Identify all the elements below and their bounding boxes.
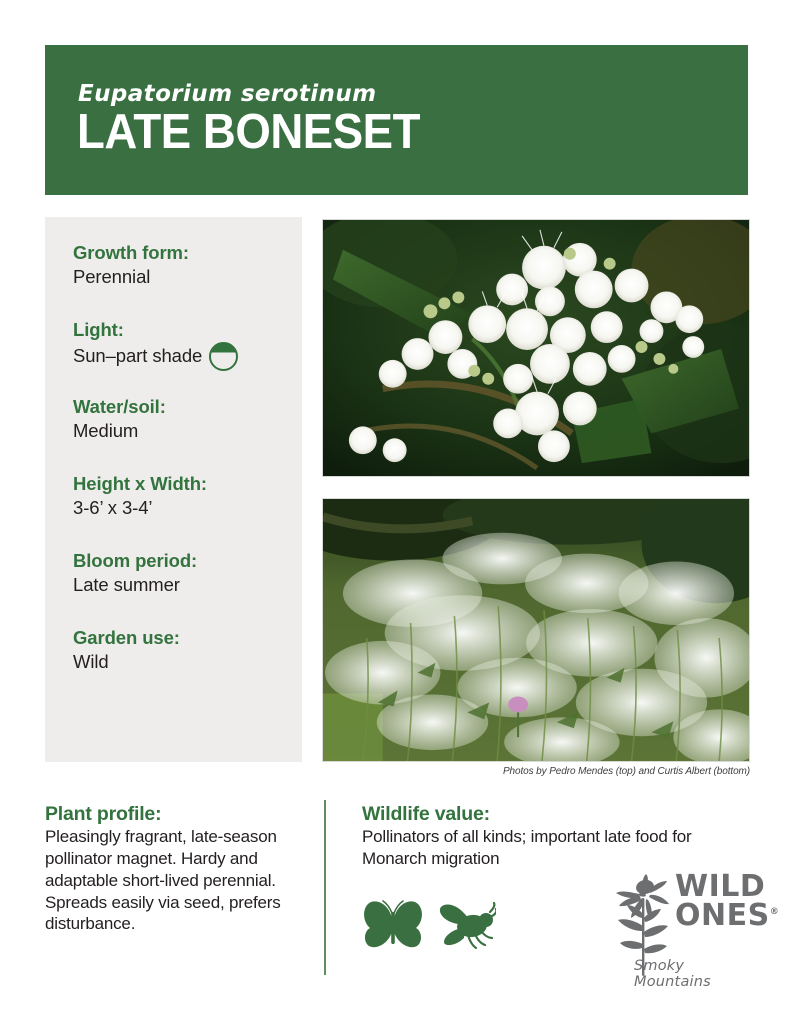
plant-profile-body: Pleasingly fragrant, late-season pollina… (45, 826, 303, 935)
plant-profile-title: Plant profile: (45, 802, 303, 826)
wildlife-value-section: Wildlife value: Pollinators of all kinds… (362, 802, 752, 870)
growth-form-value: Perennial (73, 265, 150, 289)
logo-chapter-name: Smoky Mountains (634, 958, 752, 990)
growth-form-label: Growth form: (73, 241, 308, 265)
plant-info-card: Eupatorium serotinum LATE BONESET Growth… (0, 0, 791, 1024)
part-sun-circle-icon (209, 342, 238, 371)
wildlife-icon-group (362, 898, 496, 950)
bloom-period-value: Late summer (73, 573, 180, 597)
photo-credit: Photos by Pedro Mendes (top) and Curtis … (322, 766, 750, 777)
info-row-water-soil: Water/soil: Medium (73, 395, 308, 443)
common-name-title: LATE BONESET (77, 107, 420, 158)
card-header: Eupatorium serotinum LATE BONESET (45, 45, 748, 195)
info-row-growth-form: Growth form: Perennial (73, 241, 308, 289)
bloom-period-label: Bloom period: (73, 549, 308, 573)
late-boneset-flower-closeup-photo (322, 219, 750, 477)
light-label: Light: (73, 318, 308, 342)
late-boneset-meadow-stand-photo (322, 498, 750, 762)
logo-wordmark: WILD ONES® (675, 872, 779, 931)
info-row-garden-use: Garden use: Wild (73, 626, 308, 674)
wildlife-value-body: Pollinators of all kinds; important late… (362, 826, 752, 870)
logo-line-2: ONES (675, 898, 770, 933)
section-divider (324, 800, 326, 975)
height-width-label: Height x Width: (73, 472, 308, 496)
bee-icon (438, 898, 496, 950)
info-row-bloom-period: Bloom period: Late summer (73, 549, 308, 597)
scientific-name: Eupatorium serotinum (78, 81, 376, 107)
height-width-value: 3-6’ x 3-4’ (73, 496, 152, 520)
wild-ones-logo: WILD ONES® Smoky Mountains (612, 872, 752, 980)
info-row-height-width: Height x Width: 3-6’ x 3-4’ (73, 472, 308, 520)
water-soil-label: Water/soil: (73, 395, 308, 419)
garden-use-label: Garden use: (73, 626, 308, 650)
garden-use-value: Wild (73, 650, 109, 674)
logo-line-2-wrap: ONES® (675, 901, 779, 930)
light-value-line: Sun–part shade (73, 342, 308, 371)
water-soil-value: Medium (73, 419, 138, 443)
info-row-light: Light: Sun–part shade (73, 318, 308, 371)
growing-info-panel: Growth form: Perennial Light: Sun–part s… (45, 217, 302, 762)
plant-profile-section: Plant profile: Pleasingly fragrant, late… (45, 802, 303, 935)
light-value: Sun–part shade (73, 344, 202, 368)
registered-mark: ® (770, 907, 779, 917)
logo-line-1: WILD (675, 872, 779, 901)
wildlife-value-title: Wildlife value: (362, 802, 752, 826)
butterfly-icon (362, 898, 424, 950)
